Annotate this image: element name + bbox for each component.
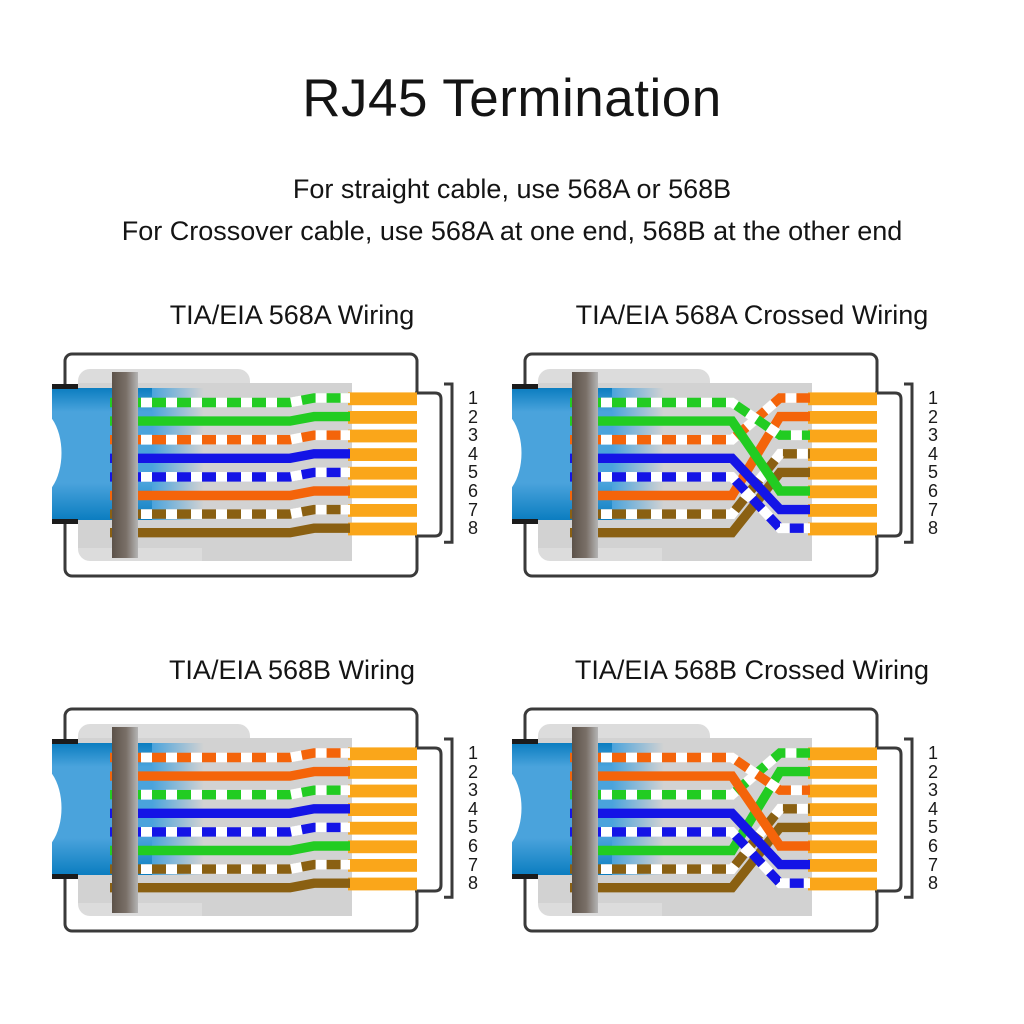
connector-latch-tab [875,393,901,536]
connector-illustration: 12345678 [52,348,532,630]
wire-orange-pin-6 [110,491,350,496]
pin-contact-7 [808,504,877,517]
pin-contact-6 [348,840,417,853]
pin-bracket [904,739,912,897]
rj45-connector-svg [512,348,992,630]
pin-contact-5 [348,467,417,480]
pin-contact-1 [808,747,877,760]
wire-green-pin-6 [110,846,350,851]
panel-568a: TIA/EIA 568A Wiring 12345678 [52,300,532,630]
panel-568a-crossed: TIA/EIA 568A Crossed Wiring 12345678 [512,300,992,630]
pin-contact-8 [348,878,417,891]
pin-contact-5 [348,822,417,835]
pin-contact-4 [808,803,877,816]
connector-latch-tab [415,748,441,891]
wire-orange-pin-2 [110,772,350,777]
crimp-bar [112,372,138,558]
connector-illustration: 12345678 [512,348,992,630]
wire-blue-pin-4 [110,454,350,459]
pin-bracket [444,384,452,542]
wire-blue-pin-4 [110,809,350,814]
pin-contact-6 [808,840,877,853]
pin-contact-6 [348,485,417,498]
wire-green-pin-2 [110,417,350,422]
panel-568b: TIA/EIA 568B Wiring 12345678 [52,655,532,985]
pin-contact-3 [348,430,417,443]
pin-contact-7 [348,859,417,872]
pin-contact-2 [808,766,877,779]
pin-contact-4 [348,803,417,816]
panel-568b-crossed: TIA/EIA 568B Crossed Wiring 12345678 [512,655,992,985]
pin-contact-4 [348,448,417,461]
connector-latch-tab [875,748,901,891]
pin-contact-1 [348,392,417,405]
panel-heading: TIA/EIA 568A Wiring [52,300,532,331]
pin-contact-4 [808,448,877,461]
panel-heading: TIA/EIA 568B Crossed Wiring [512,655,992,686]
pin-contact-3 [348,785,417,798]
crimp-bar [572,372,598,558]
panel-heading: TIA/EIA 568B Wiring [52,655,532,686]
panel-heading: TIA/EIA 568A Crossed Wiring [512,300,992,331]
connector-illustration: 12345678 [52,703,532,985]
pin-contact-1 [348,747,417,760]
page-title: RJ45 Termination [0,68,1024,129]
pin-contact-5 [808,822,877,835]
connector-illustration: 12345678 [512,703,992,985]
rj45-connector-svg [512,703,992,985]
wire-brown-pin-8 [110,528,350,533]
rj45-termination-diagram: RJ45 Termination For straight cable, use… [0,0,1024,1024]
pin-contact-2 [348,411,417,424]
crimp-bar [112,727,138,913]
rj45-connector-svg [52,703,532,985]
pin-contact-3 [808,785,877,798]
pin-contact-7 [348,504,417,517]
pin-contact-6 [808,485,877,498]
pin-contact-3 [808,430,877,443]
pin-contact-8 [808,523,877,536]
pin-contact-1 [808,392,877,405]
subtitle-straight-cable: For straight cable, use 568A or 568B [0,174,1024,205]
crimp-bar [572,727,598,913]
pin-contact-8 [348,523,417,536]
wire-brown-pin-8 [110,883,350,888]
pin-contact-2 [348,766,417,779]
pin-contact-5 [808,467,877,480]
connector-latch-tab [415,393,441,536]
subtitle-crossover-cable: For Crossover cable, use 568A at one end… [0,216,1024,247]
pin-bracket [904,384,912,542]
pin-contact-8 [808,878,877,891]
pin-contact-2 [808,411,877,424]
rj45-connector-svg [52,348,532,630]
pin-bracket [444,739,452,897]
pin-contact-7 [808,859,877,872]
